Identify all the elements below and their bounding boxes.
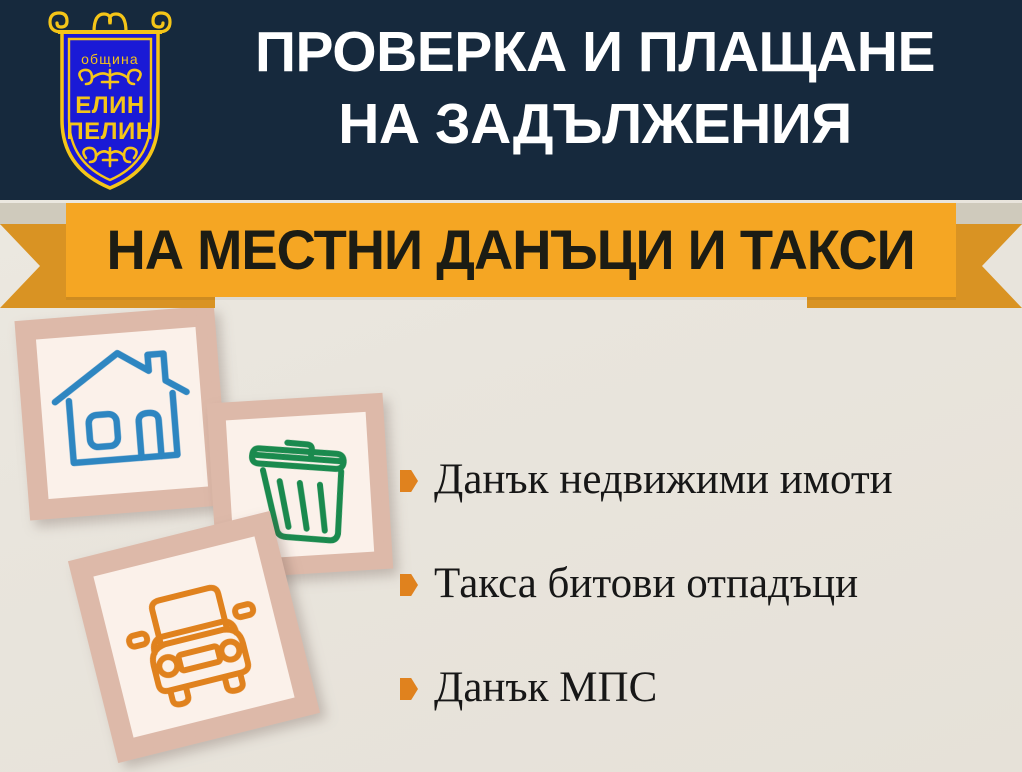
ribbon-main-panel: НА МЕСТНИ ДАНЪЦИ И ТАКСИ <box>66 203 956 297</box>
promo-banner: ПРОВЕРКА И ПЛАЩАНЕ НА ЗАДЪЛЖЕНИЯ община <box>0 0 1022 772</box>
list-item-label: Такса битови отпадъци <box>434 560 858 608</box>
list-item-label: Данък МПС <box>434 664 657 712</box>
ribbon-label: НА МЕСТНИ ДАНЪЦИ И ТАКСИ <box>107 220 915 280</box>
page-title-line-2: НА ЗАДЪЛЖЕНИЯ <box>185 88 1005 160</box>
list-item-label: Данък недвижими имоти <box>434 456 893 504</box>
list-item[interactable]: Такса битови отпадъци <box>400 532 1010 636</box>
house-icon <box>51 348 191 464</box>
bullet-arrow-icon <box>400 678 418 700</box>
stamp-property-tax <box>14 305 229 520</box>
svg-text:община: община <box>81 51 139 67</box>
page-title-line-1: ПРОВЕРКА И ПЛАЩАНЕ <box>255 20 935 84</box>
svg-text:ЕЛИН: ЕЛИН <box>75 92 144 119</box>
bullet-arrow-icon <box>400 470 418 492</box>
municipality-crest-logo: община ЕЛИН ПЕЛИН <box>42 8 178 194</box>
tax-type-list: Данък недвижими имоти Такса битови отпад… <box>400 428 1010 740</box>
stamp-perforation-edge <box>14 305 229 520</box>
ribbon-banner: НА МЕСТНИ ДАНЪЦИ И ТАКСИ <box>0 200 1022 310</box>
bullet-arrow-icon <box>400 574 418 596</box>
list-item[interactable]: Данък недвижими имоти <box>400 428 1010 532</box>
svg-text:ПЕЛИН: ПЕЛИН <box>66 118 153 145</box>
page-title: ПРОВЕРКА И ПЛАЩАНЕ НА ЗАДЪЛЖЕНИЯ <box>185 16 1005 160</box>
list-item[interactable]: Данък МПС <box>400 636 1010 740</box>
car-icon <box>121 579 271 713</box>
